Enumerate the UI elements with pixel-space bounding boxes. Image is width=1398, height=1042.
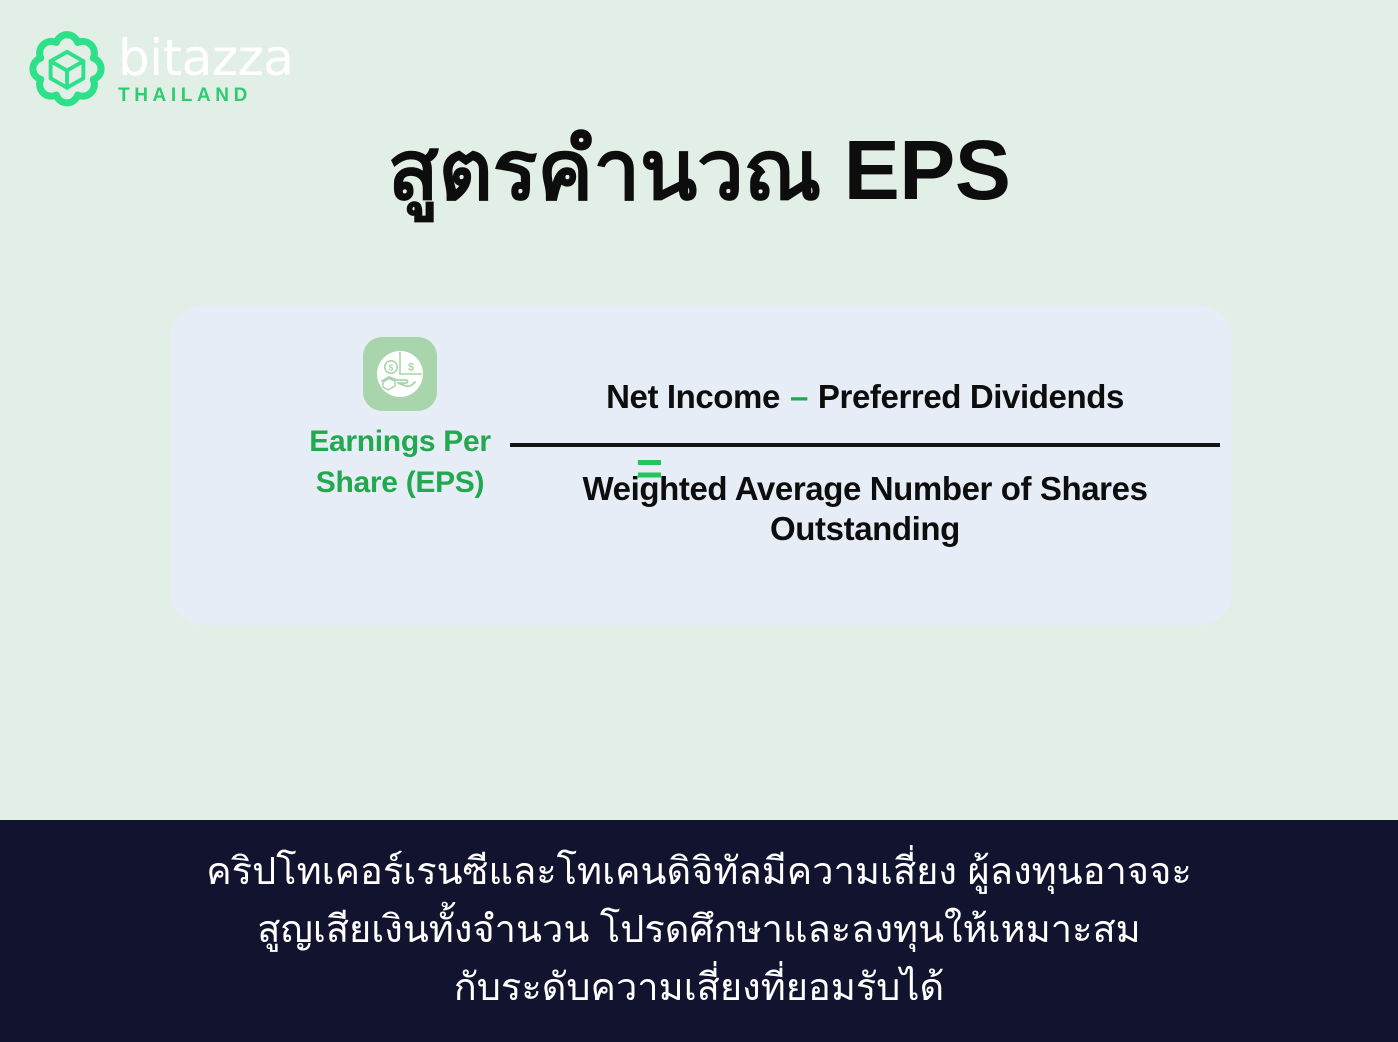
brand-subtitle: THAILAND	[118, 85, 294, 107]
disclaimer-text: คริปโทเคอร์เรนซีและโทเคนดิจิทัลมีความเสี…	[139, 844, 1259, 1017]
disclaimer-line-1: คริปโทเคอร์เรนซีและโทเคนดิจิทัลมีความเสี…	[139, 844, 1259, 902]
numerator-right-term: Preferred Dividends	[818, 378, 1124, 415]
money-pie-chart-hand-icon: $ $	[363, 337, 437, 411]
numerator-left-term: Net Income	[606, 378, 780, 415]
fraction-bar	[510, 443, 1220, 447]
denominator-line-1: Weighted Average Number of Shares	[510, 469, 1220, 509]
fraction-denominator: Weighted Average Number of Shares Outsta…	[510, 469, 1220, 550]
denominator-line-2: Outstanding	[510, 509, 1220, 549]
disclaimer-line-3: กับระดับความเสี่ยงที่ยอมรับได้	[139, 960, 1259, 1018]
formula-card: $ $ Earnings Per Share (EPS) = Net Incom…	[170, 305, 1232, 625]
svg-text:$: $	[389, 363, 394, 372]
brand-wordmark: bitazza THAILAND	[118, 34, 294, 107]
eps-fraction: Net Income–Preferred Dividends Weighted …	[510, 377, 1220, 549]
svg-text:$: $	[408, 362, 414, 374]
brand-name: bitazza	[118, 34, 294, 83]
numerator-minus-operator: –	[790, 378, 808, 415]
fraction-numerator: Net Income–Preferred Dividends	[510, 377, 1220, 417]
bitazza-flower-cube-logo-icon	[28, 30, 106, 108]
page-title: สูตรคำนวณ EPS	[0, 124, 1398, 216]
brand-logo: bitazza THAILAND	[28, 30, 294, 108]
infographic-page: bitazza THAILAND สูตรคำนวณ EPS $ $ Earni…	[0, 0, 1398, 1042]
disclaimer-line-2: สูญเสียเงินทั้งจำนวน โปรดศึกษาและลงทุนให…	[139, 902, 1259, 960]
disclaimer-footer: คริปโทเคอร์เรนซีและโทเคนดิจิทัลมีความเสี…	[0, 820, 1398, 1042]
